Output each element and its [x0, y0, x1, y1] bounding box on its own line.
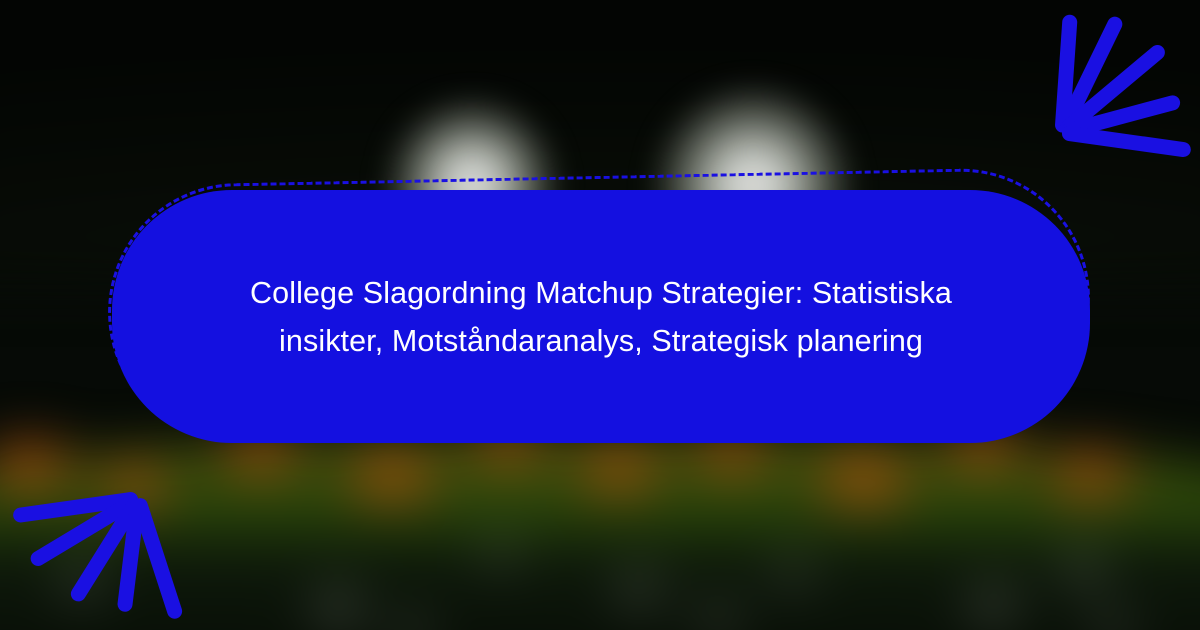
crowd-speck — [776, 557, 812, 591]
crowd-speck — [1094, 611, 1132, 630]
crowd-speck — [312, 585, 364, 630]
share-card-canvas: College Slagordning Matchup Strategier: … — [0, 0, 1200, 630]
crowd-speck — [616, 569, 662, 611]
crowd-speck — [968, 583, 1018, 629]
crowd-speck — [1062, 549, 1106, 589]
crowd-speck — [698, 601, 738, 630]
crowd-speck — [392, 615, 430, 630]
page-title: College Slagordning Matchup Strategier: … — [206, 269, 996, 365]
crowd-speck — [484, 537, 518, 569]
title-card: College Slagordning Matchup Strategier: … — [112, 190, 1090, 443]
